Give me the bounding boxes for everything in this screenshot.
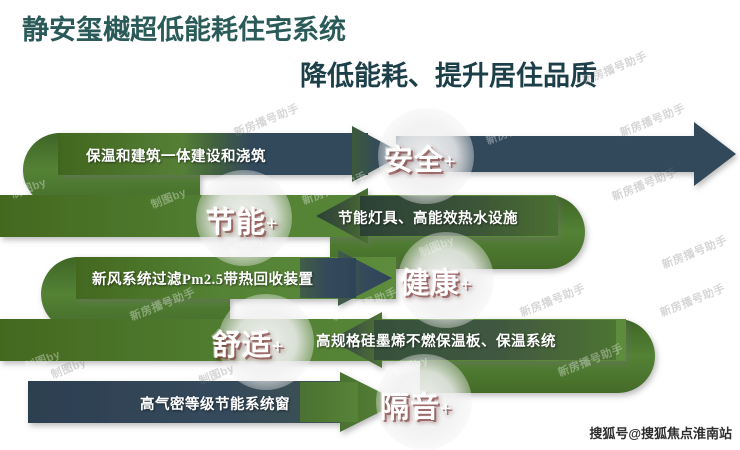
row-1-label: 安全+ bbox=[384, 137, 456, 179]
row-4-label: 舒适+ bbox=[212, 322, 284, 364]
row-3-description: 新风系统过滤Pm2.5带热回收装置 bbox=[92, 268, 314, 289]
row-2-label-text: 节能 bbox=[206, 207, 266, 239]
row-4-label-text: 舒适 bbox=[212, 330, 272, 362]
row-3-label: 健康+ bbox=[400, 260, 472, 302]
row-5-label-text: 隔音 bbox=[380, 392, 440, 424]
row-5-label-plus: + bbox=[440, 398, 452, 420]
row-3-label-text: 健康 bbox=[400, 268, 460, 300]
slide-canvas: 静安玺樾超低能耗住宅系统 降低能耗、提升居住品质 bbox=[0, 0, 740, 450]
row-5-description: 高气密等级节能系统窗 bbox=[140, 393, 290, 414]
row-1-description: 保温和建筑一体建设和浇筑 bbox=[86, 145, 266, 166]
footer-credit: 搜狐号@搜狐焦点淮南站 bbox=[589, 423, 732, 442]
row-2-label-plus: + bbox=[266, 213, 278, 235]
row-2-label: 节能+ bbox=[206, 199, 278, 241]
row-5-label: 隔音+ bbox=[380, 384, 452, 426]
row-1-label-plus: + bbox=[444, 151, 456, 173]
row-3-label-plus: + bbox=[460, 274, 472, 296]
row-4-label-plus: + bbox=[272, 336, 284, 358]
row-2-description: 节能灯具、高能效热水设施 bbox=[338, 207, 518, 228]
row-4-description: 高规格硅墨烯不燃保温板、保温系统 bbox=[316, 330, 556, 351]
row-1-label-text: 安全 bbox=[384, 145, 444, 177]
